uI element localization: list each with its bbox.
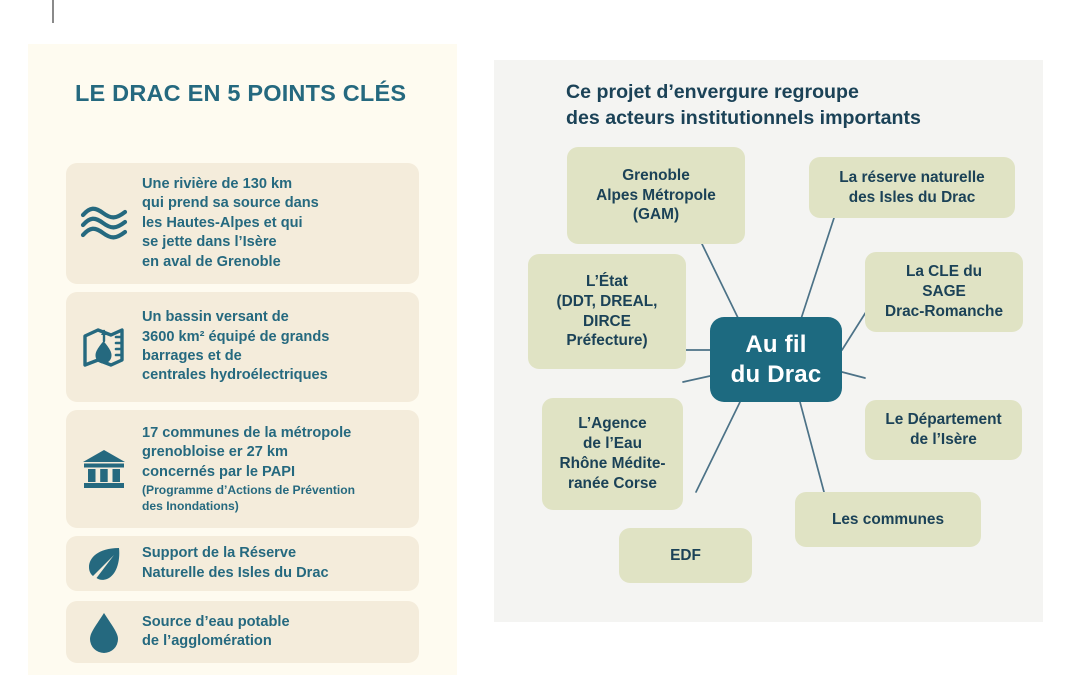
key-point-card: 17 communes de la métropole grenobloise … (66, 410, 419, 528)
left-panel-title: LE DRAC EN 5 POINTS CLÉS (75, 80, 445, 107)
water-drop-icon (66, 611, 142, 653)
key-point-text: 17 communes de la métropole grenobloise … (142, 424, 419, 514)
stakeholder-node-edf[interactable]: EDF (619, 528, 752, 583)
key-point-main-text: 17 communes de la métropole grenobloise … (142, 425, 351, 480)
key-point-sub-text: (Programme d’Actions de Prévention des I… (142, 483, 411, 514)
key-point-card: Une rivière de 130 km qui prend sa sourc… (66, 163, 419, 284)
stakeholders-panel: Ce projet d’envergure regroupe des acteu… (494, 60, 1043, 622)
diagram-hub-au-fil-du-drac[interactable]: Au fil du Drac (710, 317, 842, 402)
key-point-text: Un bassin versant de 3600 km² équipé de … (142, 308, 419, 386)
key-point-card: Source d’eau potable de l’agglomération (66, 601, 419, 663)
classical-building-icon (66, 448, 142, 490)
stakeholder-node-cle-sage-drac-romanche[interactable]: La CLE du SAGE Drac-Romanche (865, 252, 1023, 332)
stakeholder-node-letat[interactable]: L’État (DDT, DREAL, DIRCE Préfecture) (528, 254, 686, 369)
key-point-text: Support de la Réserve Naturelle des Isle… (142, 544, 419, 583)
stakeholder-node-les-communes[interactable]: Les communes (795, 492, 981, 547)
watershed-map-drop-icon (66, 324, 142, 370)
key-point-text: Source d’eau potable de l’agglomération (142, 613, 419, 652)
key-point-card: Support de la Réserve Naturelle des Isle… (66, 536, 419, 591)
waves-icon (66, 204, 142, 244)
key-point-card: Un bassin versant de 3600 km² équipé de … (66, 292, 419, 402)
key-points-panel: LE DRAC EN 5 POINTS CLÉS Une rivière de … (28, 44, 457, 675)
top-rule-divider (52, 0, 54, 23)
leaf-icon (66, 544, 142, 584)
stakeholder-diagram: Grenoble Alpes Métropole (GAM) La réserv… (494, 60, 1043, 622)
key-point-text: Une rivière de 130 km qui prend sa sourc… (142, 175, 419, 272)
stakeholder-node-agence-de-leau[interactable]: L’Agence de l’Eau Rhône Médite- ranée Co… (542, 398, 683, 510)
stakeholder-node-grenoble-alpes-metropole[interactable]: Grenoble Alpes Métropole (GAM) (567, 147, 745, 244)
stakeholder-node-reserve-naturelle[interactable]: La réserve naturelle des Isles du Drac (809, 157, 1015, 218)
stakeholder-node-departement-isere[interactable]: Le Département de l’Isère (865, 400, 1022, 460)
